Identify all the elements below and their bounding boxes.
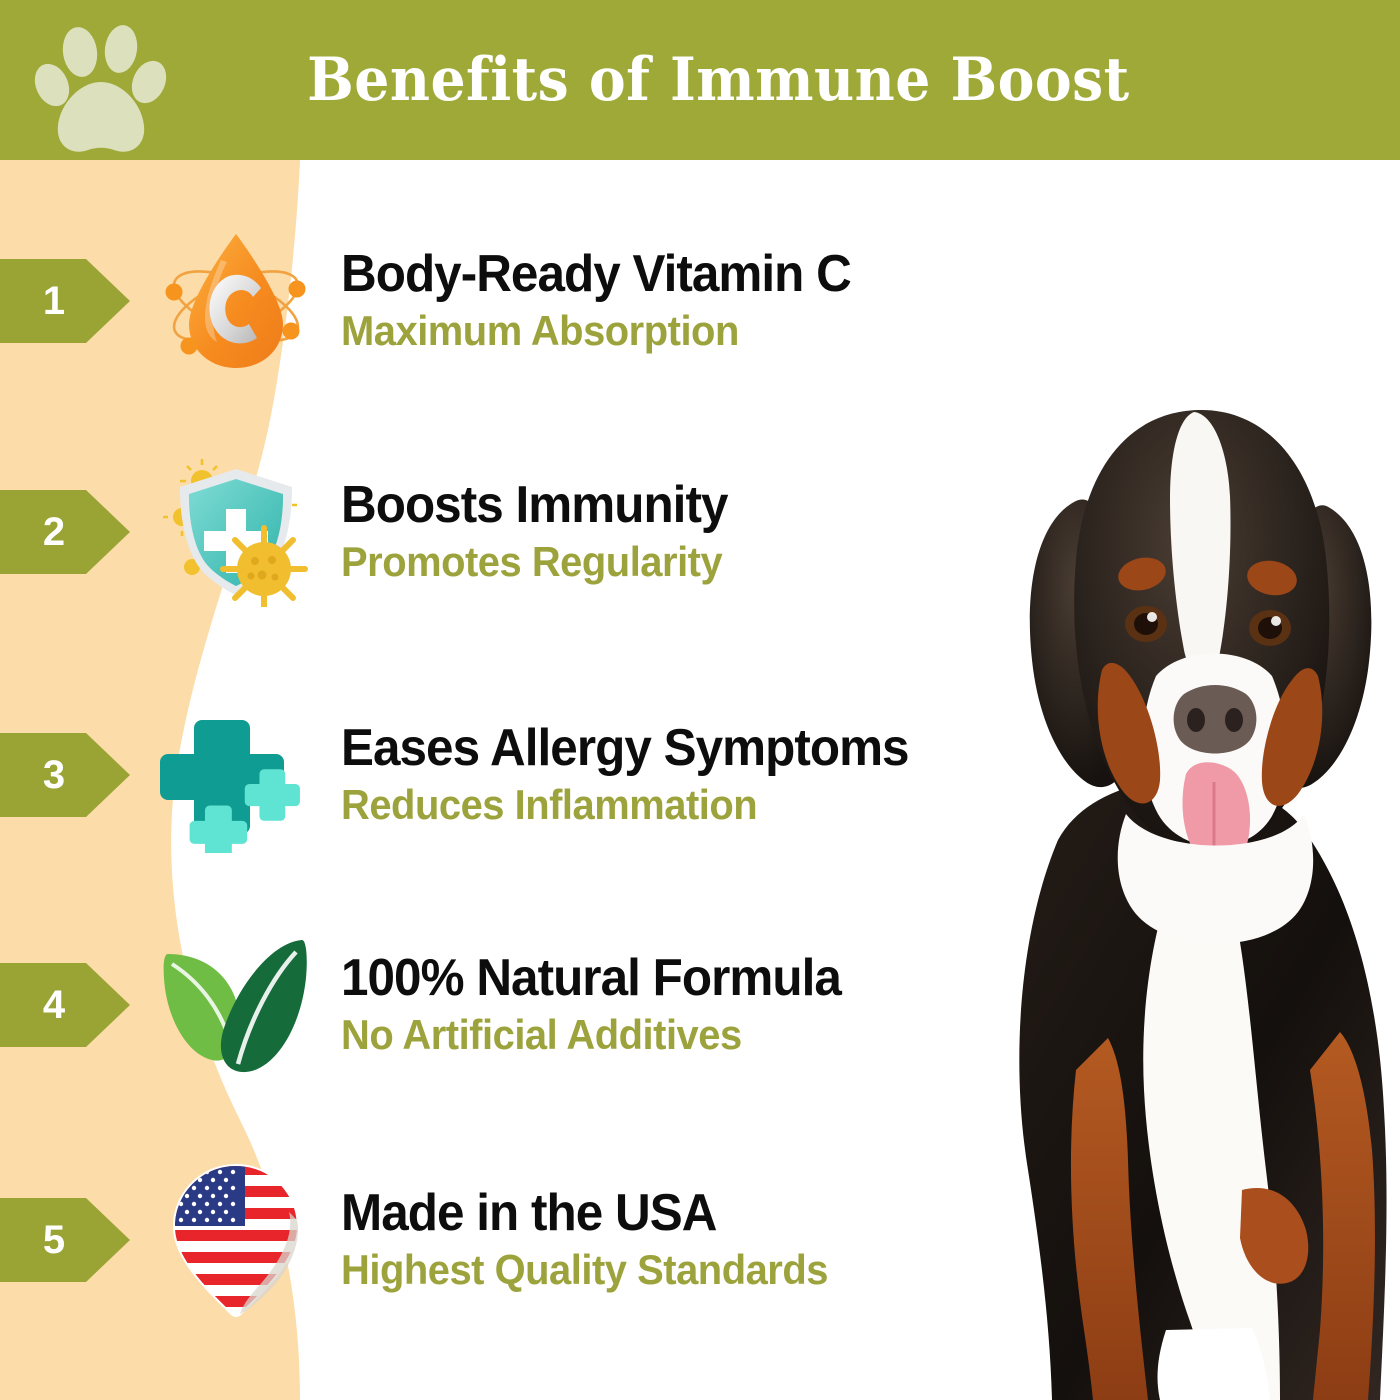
step-badge-1: 1 (0, 253, 130, 349)
vitamin-c-droplet-icon (148, 226, 323, 376)
header-bar: Benefits of Immune Boost (0, 0, 1400, 160)
step-number-1: 1 (43, 281, 65, 321)
benefit-row-3[interactable]: 3 Eases Allergy Symptoms Reduces Inflamm… (0, 700, 1100, 850)
step-badge-3: 3 (0, 727, 130, 823)
benefit-text-3: Eases Allergy Symptoms Reduces Inflammat… (323, 722, 1100, 828)
medical-cross-icon (148, 700, 323, 850)
step-number-5: 5 (43, 1220, 65, 1260)
benefit-text-2: Boosts Immunity Promotes Regularity (323, 479, 1100, 585)
benefit-title-4: 100% Natural Formula (341, 952, 1062, 1005)
step-number-3: 3 (43, 755, 65, 795)
step-badge-5: 5 (0, 1192, 130, 1288)
step-badge-4: 4 (0, 957, 130, 1053)
step-number-2: 2 (43, 512, 65, 552)
immunity-shield-virus-icon (148, 457, 323, 607)
benefit-title-3: Eases Allergy Symptoms (341, 722, 1062, 775)
benefit-subtitle-2: Promotes Regularity (341, 538, 1062, 585)
benefit-row-2[interactable]: 2 (0, 457, 1100, 607)
benefit-row-1[interactable]: 1 (0, 226, 1100, 376)
benefit-title-5: Made in the USA (341, 1187, 1062, 1240)
benefit-title-2: Boosts Immunity (341, 479, 1062, 532)
benefit-row-4[interactable]: 4 100% Natural Formula No Artificial Add… (0, 930, 1100, 1080)
usa-flag-pin-icon (148, 1165, 323, 1315)
benefits-list: 1 (0, 160, 1100, 1400)
benefit-text-5: Made in the USA Highest Quality Standard… (323, 1187, 1100, 1293)
benefit-subtitle-3: Reduces Inflammation (341, 781, 1062, 828)
step-number-4: 4 (43, 985, 65, 1025)
benefit-row-5[interactable]: 5 (0, 1165, 1100, 1315)
benefit-text-1: Body-Ready Vitamin C Maximum Absorption (323, 248, 1100, 354)
step-badge-2: 2 (0, 484, 130, 580)
benefit-subtitle-5: Highest Quality Standards (341, 1246, 1062, 1293)
benefit-subtitle-1: Maximum Absorption (341, 307, 1062, 354)
benefit-title-1: Body-Ready Vitamin C (341, 248, 1062, 301)
benefit-text-4: 100% Natural Formula No Artificial Addit… (323, 952, 1100, 1058)
page-title: Benefits of Immune Boost (56, 0, 1344, 160)
benefit-subtitle-4: No Artificial Additives (341, 1011, 1062, 1058)
leaves-natural-icon (148, 930, 323, 1080)
